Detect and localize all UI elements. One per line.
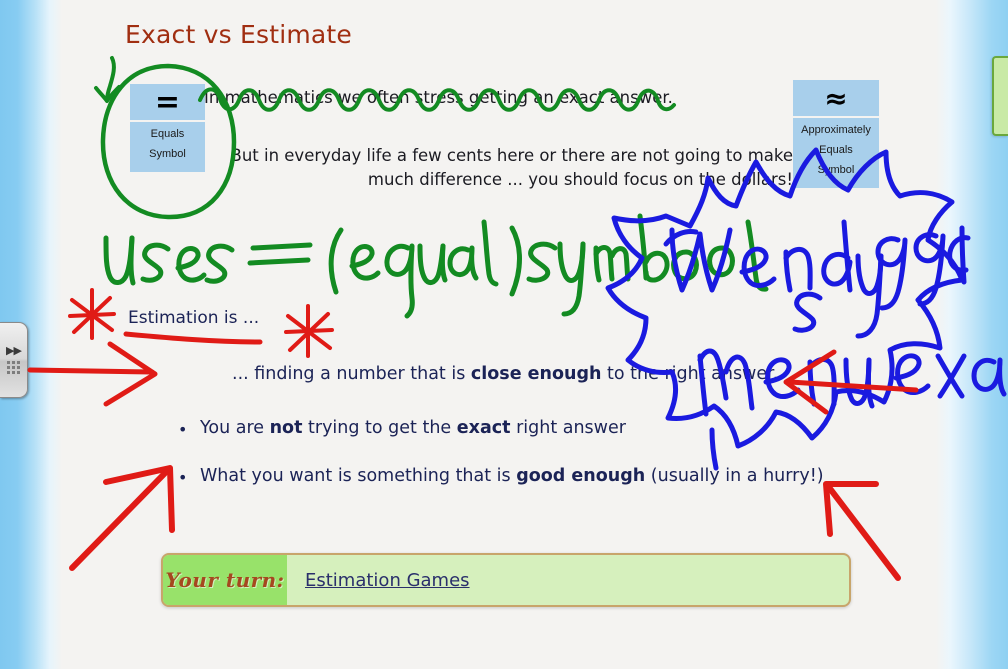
approximately-equals-sign-icon: ≈ [793,80,879,118]
bullet1-bold1: not [270,418,303,438]
approx-card-line2: Equals [793,138,879,158]
your-turn-label: Your turn: [163,555,287,605]
equals-sign-icon: = [130,84,205,122]
finding-suffix: to the right answer. [601,364,778,384]
approximately-equals-symbol-card: ≈ Approximately Equals Symbol [793,80,879,188]
bullet-marker-icon: • [178,468,187,487]
bullet-marker-icon: • [178,420,187,439]
bullet-item-good-enough: •What you want is something that is good… [200,466,824,486]
equals-card-body: Equals Symbol [130,122,205,172]
estimation-lead-text: Estimation is ... [128,308,259,328]
bullet1-part3: right answer [511,418,626,438]
finding-prefix: ... finding a number that is [232,364,471,384]
finding-number-text: ... finding a number that is close enoug… [232,364,778,384]
bullet1-part1: You are [200,418,270,438]
your-turn-box: Your turn: Estimation Games [161,553,851,607]
bullet-item-not-exact: •You are not trying to get the exact rig… [200,418,626,438]
approx-card-line3: Symbol [793,158,879,178]
equals-card-line2: Symbol [130,142,205,162]
paragraph-everyday-life: But in everyday life a few cents here or… [218,144,793,192]
equals-card-line1: Equals [130,122,205,142]
bullet2-part1: What you want is something that is [200,466,516,486]
bullet2-part2: (usually in a hurry!) [645,466,823,486]
finding-bold: close enough [471,364,602,384]
approx-card-line1: Approximately [793,118,879,138]
paragraph-exact-answer: In mathematics we often stress getting a… [204,86,804,110]
screenshot-root: ▶▶ Exact vs Estimate = Equals Symbol ≈ A… [0,0,1008,669]
estimation-games-link[interactable]: Estimation Games [305,570,470,591]
bullet2-bold1: good enough [516,466,645,486]
slide-content: Exact vs Estimate = Equals Symbol ≈ Appr… [0,0,1008,669]
bullet1-part2: trying to get the [302,418,456,438]
equals-symbol-card: = Equals Symbol [130,84,205,172]
page-title: Exact vs Estimate [125,20,352,49]
approx-card-body: Approximately Equals Symbol [793,118,879,188]
bullet1-bold2: exact [457,418,511,438]
